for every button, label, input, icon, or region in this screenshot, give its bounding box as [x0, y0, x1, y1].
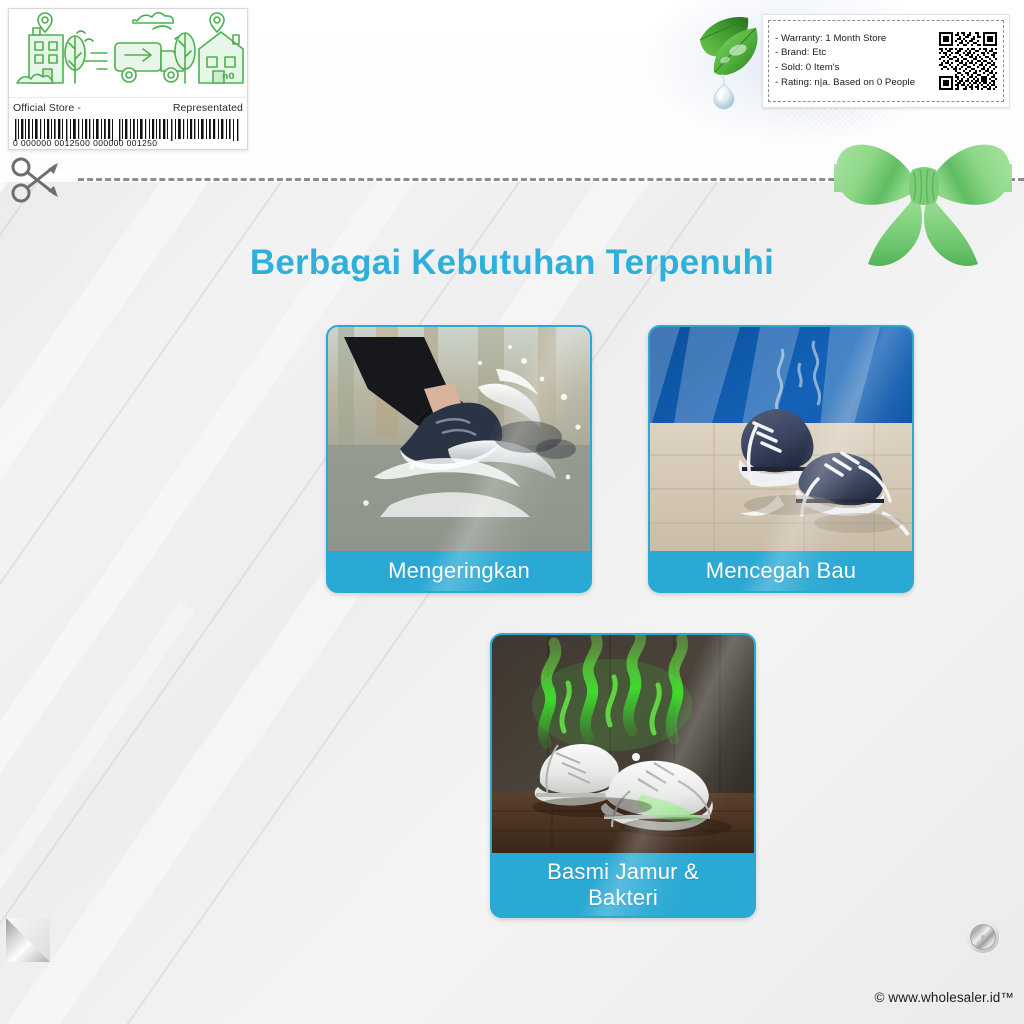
page-title: Berbagai Kebutuhan Terpenuhi — [0, 243, 1024, 283]
feature-card-mengeringkan[interactable]: Mengeringkan — [326, 325, 592, 593]
info-line-rating: - Rating: n|a. Based on 0 People — [775, 76, 937, 91]
promo-page: n0 Official Store - Representated — [0, 0, 1024, 1024]
shoe-splashing-water-photo — [328, 327, 590, 551]
sneakers-odor-photo — [650, 327, 912, 551]
feature-card-label: Basmi Jamur & Bakteri — [492, 853, 754, 916]
info-line-warranty: - Warranty: 1 Month Store — [775, 32, 937, 47]
store-left-label: Official Store - — [13, 102, 81, 114]
store-meta-row: Official Store - Representated — [9, 97, 247, 117]
scissors-icon — [8, 152, 64, 208]
info-line-sold: - Sold: 0 Item's — [775, 61, 937, 76]
feature-card-label: Mencegah Bau — [650, 551, 912, 591]
white-sneakers-green-smoke-photo — [492, 635, 754, 853]
qr-code[interactable] — [939, 32, 997, 90]
delivery-truck-city-illustration: n0 — [9, 9, 247, 97]
official-store-card[interactable]: n0 Official Store - Representated — [8, 8, 248, 150]
metallic-knob[interactable] — [966, 920, 1000, 954]
feature-card-basmi-jamur-bakteri[interactable]: Basmi Jamur & Bakteri — [490, 633, 756, 918]
footer-copyright: © www.wholesaler.id™ — [0, 990, 1014, 1005]
feature-card-label: Mengeringkan — [328, 551, 590, 591]
barcode: 0 000000 0012500 000000 001250 — [13, 119, 243, 149]
leaf-waterdrop-graphic — [692, 10, 772, 110]
barcode-number: 0 000000 0012500 000000 001250 — [13, 138, 243, 148]
feature-card-label-line2: Bakteri — [588, 885, 658, 911]
svg-text:n0: n0 — [222, 72, 235, 82]
info-line-brand: - Brand: Etc — [775, 46, 937, 61]
feature-card-label-line1: Basmi Jamur & — [547, 859, 699, 885]
store-right-label: Representated — [173, 102, 243, 114]
feature-card-mencegah-bau[interactable]: Mencegah Bau — [648, 325, 914, 593]
info-line-list: - Warranty: 1 Month Store - Brand: Etc -… — [769, 28, 939, 94]
product-info-box: - Warranty: 1 Month Store - Brand: Etc -… — [762, 14, 1010, 108]
